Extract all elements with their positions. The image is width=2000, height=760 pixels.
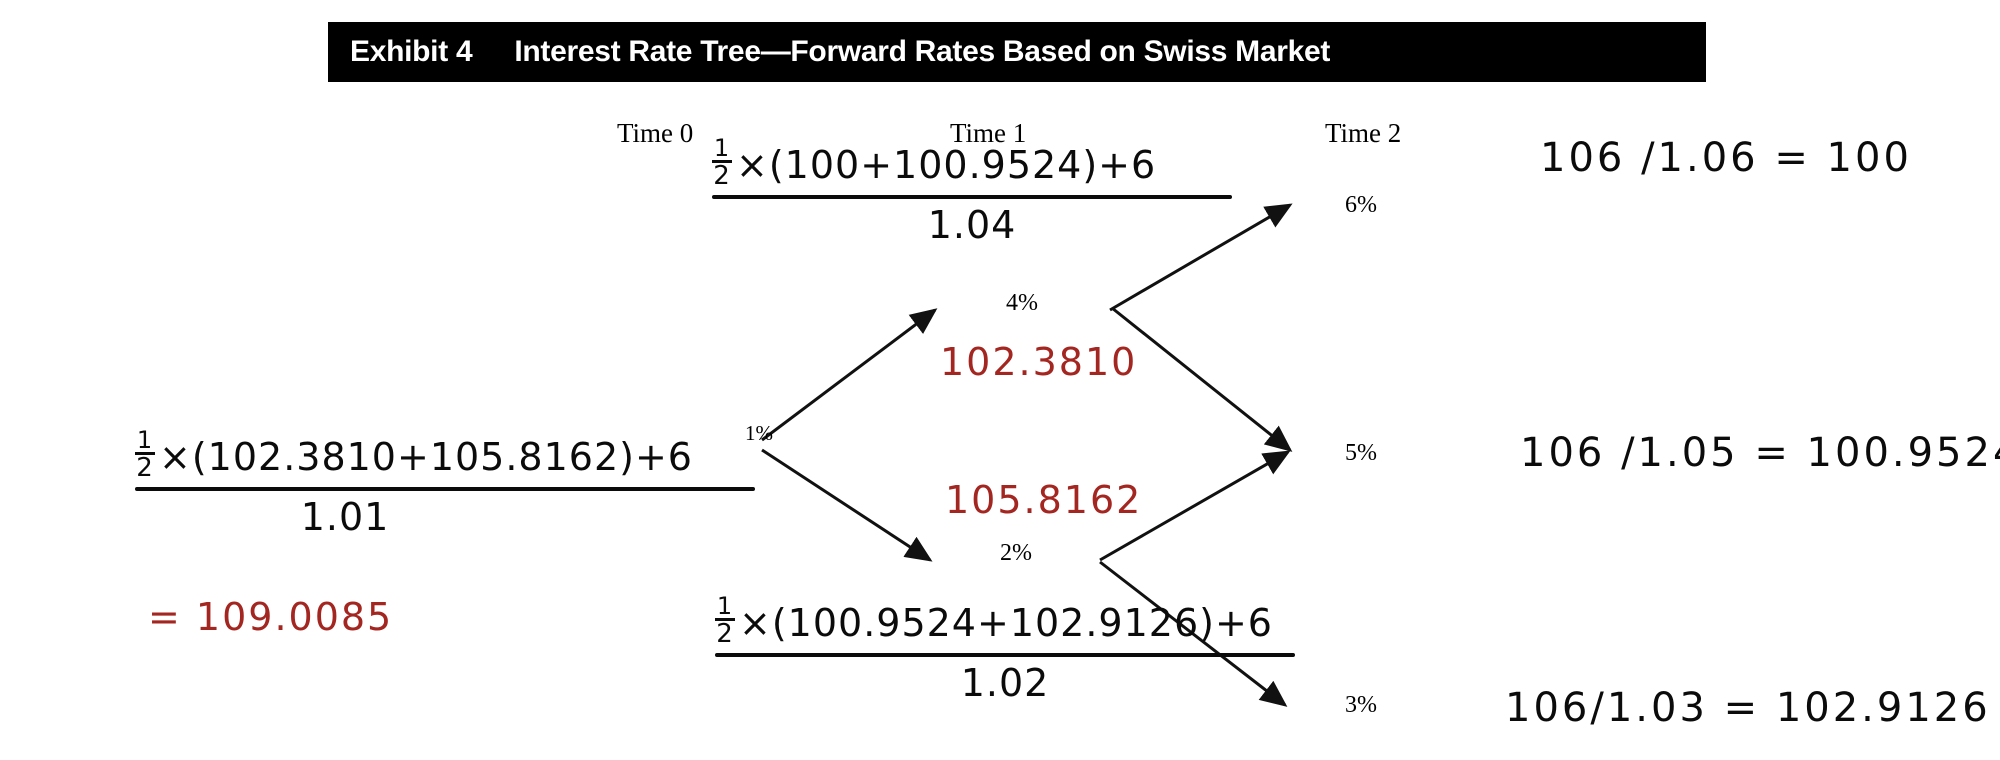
side-calc-3pct: 106/1.03 = 102.9126	[1505, 685, 1991, 731]
top-node-fraction-bar	[712, 195, 1232, 199]
exhibit-page: Exhibit 4 Interest Rate Tree—Forward Rat…	[0, 0, 2000, 760]
one-half-glyph-root: 1 2	[135, 430, 155, 479]
time1-down-node-value: 105.8162	[945, 478, 1142, 522]
time1-up-rate-label: 4%	[1006, 290, 1038, 317]
bottom-node-denominator: 1.02	[715, 661, 1295, 705]
exhibit-title-bar: Exhibit 4 Interest Rate Tree—Forward Rat…	[328, 22, 1706, 82]
bottom-node-formula-numerator: 1 2 ×(100.9524+102.9126)+6	[715, 598, 1315, 647]
time-2-label: Time 2	[1325, 118, 1401, 149]
time2-mid-rate-label: 5%	[1345, 440, 1377, 467]
root-node-denominator: 1.01	[135, 495, 555, 539]
root-node-fraction-bar	[135, 487, 755, 491]
exhibit-caption: Interest Rate Tree—Forward Rates Based o…	[514, 35, 1330, 69]
bottom-node-fraction-bar	[715, 653, 1295, 657]
exhibit-number-label: Exhibit 4	[350, 35, 472, 69]
bottom-node-formula: 1 2 ×(100.9524+102.9126)+6 1.02	[715, 598, 1315, 705]
one-half-glyph-bottom: 1 2	[715, 596, 735, 645]
top-node-denominator: 1.04	[712, 203, 1232, 247]
bottom-node-numerator-text: ×(100.9524+102.9126)+6	[739, 601, 1273, 645]
top-node-numerator-text: ×(100+100.9524)+6	[736, 143, 1156, 187]
root-node-formula: 1 2 ×(102.3810+105.8162)+6 1.01	[135, 432, 775, 539]
time2-up-rate-label: 6%	[1345, 192, 1377, 219]
time-0-label: Time 0	[617, 118, 693, 149]
root-node-formula-numerator: 1 2 ×(102.3810+105.8162)+6	[135, 432, 775, 481]
one-half-glyph-top: 1 2	[712, 138, 732, 187]
arrow-root-to-up	[762, 310, 935, 440]
side-calc-5pct: 106 /1.05 = 100.9524	[1520, 430, 2000, 476]
side-calc-6pct: 106 /1.06 = 100	[1540, 135, 1912, 181]
time1-up-node-value: 102.3810	[940, 340, 1137, 384]
arrow-root-to-down	[762, 450, 930, 560]
arrow-up-to-5pct	[1112, 308, 1290, 450]
top-node-formula-numerator: 1 2 ×(100+100.9524)+6	[712, 140, 1252, 189]
root-node-result: = 109.0085	[148, 595, 393, 639]
time1-down-rate-label: 2%	[1000, 540, 1032, 567]
root-node-numerator-text: ×(102.3810+105.8162)+6	[159, 435, 693, 479]
time2-down-rate-label: 3%	[1345, 692, 1377, 719]
top-node-formula: 1 2 ×(100+100.9524)+6 1.04	[712, 140, 1252, 247]
